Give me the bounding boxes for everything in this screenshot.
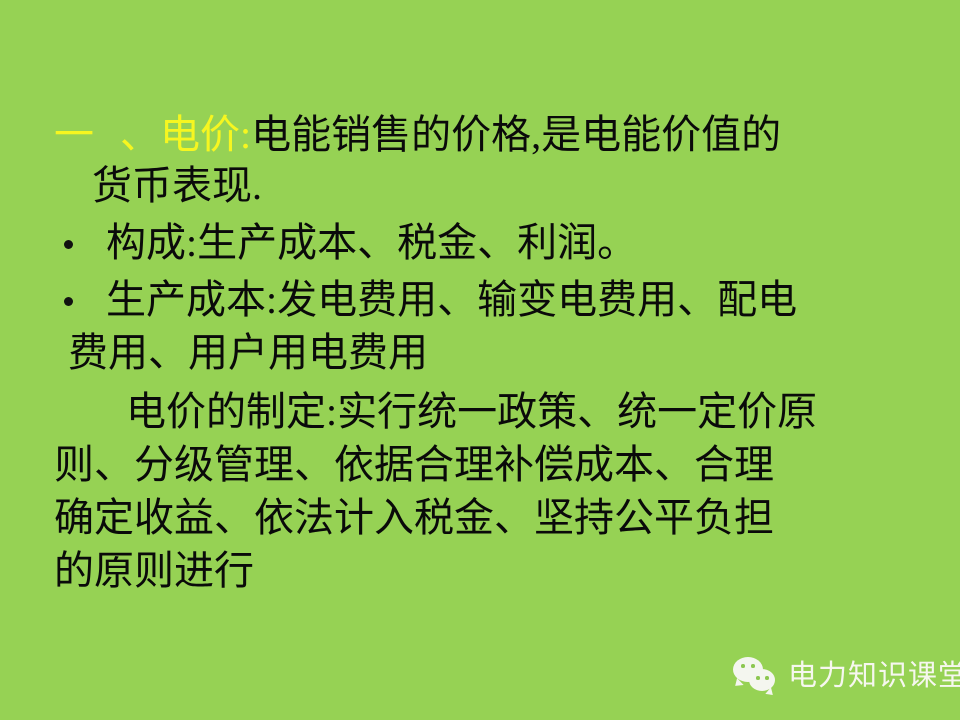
closing-line-1: 电价的制定:实行统一政策、统一定价原 <box>126 389 817 434</box>
lead-paragraph: 一、电价:电能销售的价格,是电能价值的 货币表现. <box>54 108 914 212</box>
heading-colon: : <box>240 112 251 157</box>
wechat-eye <box>751 664 755 668</box>
wechat-bubble-small <box>749 669 775 691</box>
watermark-label: 电力知识课堂 <box>788 660 960 690</box>
bullet-2-line-1: 生产成本:发电费用、输变电费用、配电 <box>90 273 914 326</box>
wechat-icon <box>733 655 779 695</box>
wechat-eye <box>741 664 745 668</box>
lead-line-1: 电能销售的价格,是电能价值的 <box>251 112 781 157</box>
bullet-1-line-1: 构成:生产成本、税金、利润。 <box>90 216 914 269</box>
lead-line-2: 货币表现. <box>54 159 914 212</box>
bullet-2-line-2: 费用、用户用电费用 <box>68 326 914 379</box>
section-heading: 一、电价: <box>54 112 251 157</box>
closing-line-4: 的原则进行 <box>54 544 914 597</box>
closing-line-2: 则、分级管理、依据合理补偿成本、合理 <box>54 438 914 491</box>
wechat-eye <box>765 676 769 680</box>
heading-separator: 、 <box>120 112 160 157</box>
watermark: 电力知识课堂 <box>733 655 960 695</box>
heading-number: 一 <box>54 112 94 157</box>
closing-line-3: 确定收益、依法计入税金、坚持公平负担 <box>54 491 914 544</box>
wechat-eye <box>756 676 760 680</box>
bullet-item-production-cost: 生产成本:发电费用、输变电费用、配电 费用、用户用电费用 <box>54 273 914 379</box>
closing-paragraph: 电价的制定:实行统一政策、统一定价原 则、分级管理、依据合理补偿成本、合理 确定… <box>54 385 914 597</box>
heading-term: 电价 <box>160 112 240 157</box>
slide-canvas: 一、电价:电能销售的价格,是电能价值的 货币表现. 构成:生产成本、税金、利润。… <box>0 0 960 720</box>
bullet-dot-icon <box>64 297 73 306</box>
bullet-item-composition: 构成:生产成本、税金、利润。 <box>54 216 914 269</box>
bullet-dot-icon <box>64 240 73 249</box>
slide-body: 一、电价:电能销售的价格,是电能价值的 货币表现. 构成:生产成本、税金、利润。… <box>54 108 914 597</box>
